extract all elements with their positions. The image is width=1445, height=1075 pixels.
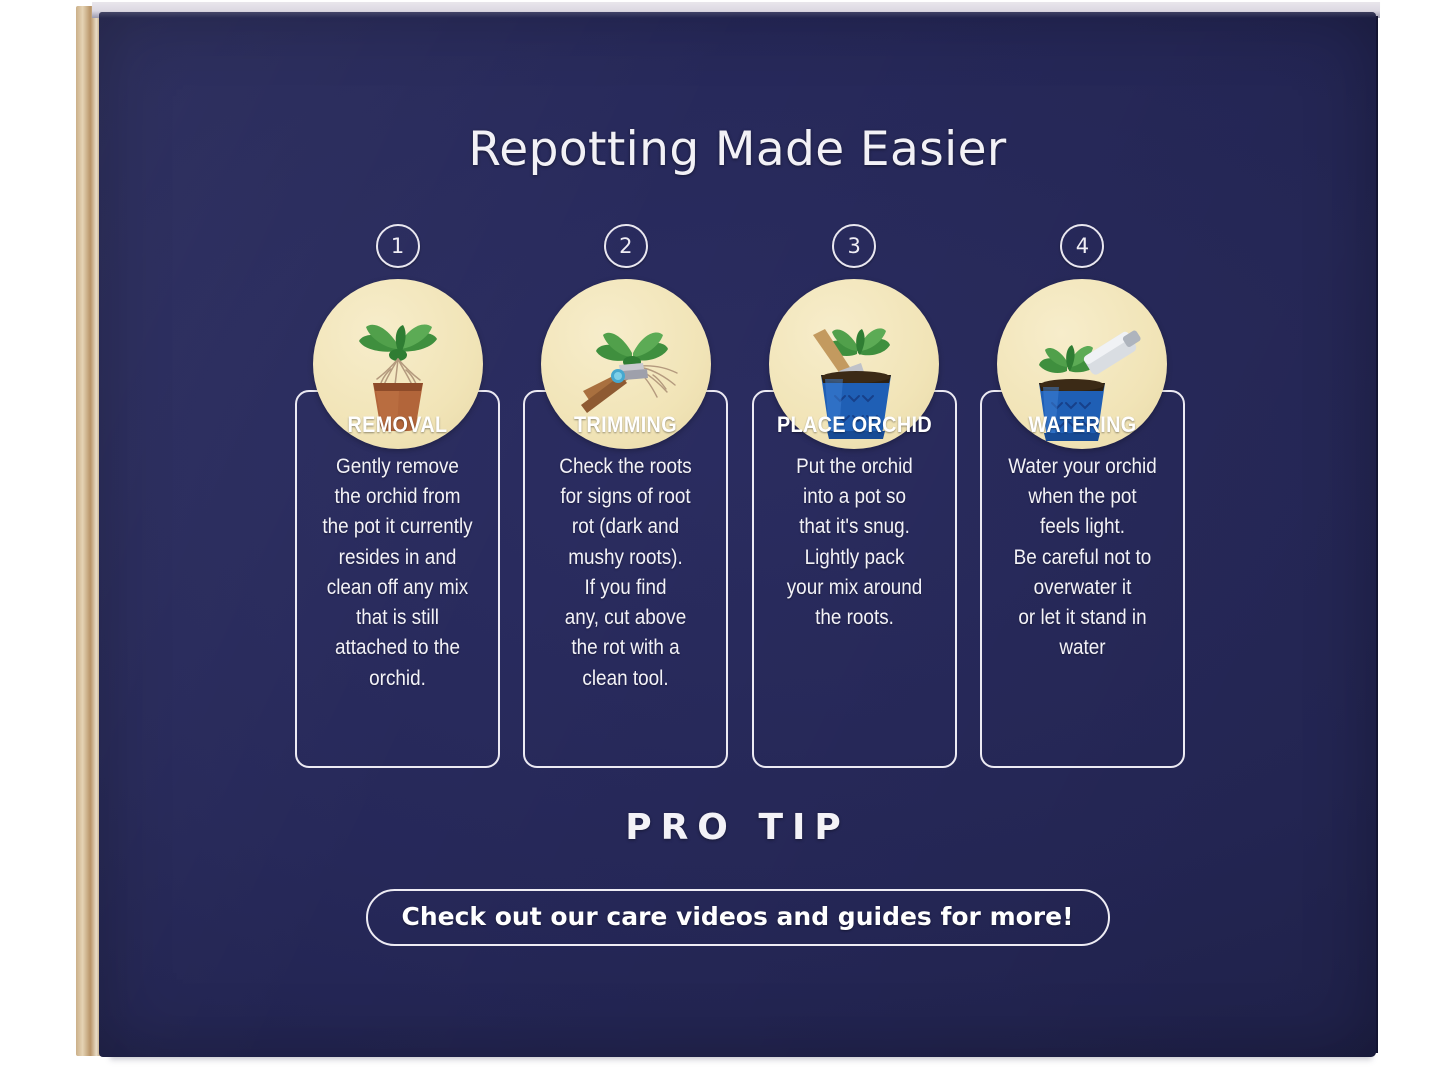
- step-body-4: Water your orchid when the pot feels lig…: [997, 452, 1167, 664]
- step-number-badge-2: 2: [604, 224, 648, 268]
- step-card-content-2: TRIMMING Check the roots for signs of ro…: [523, 412, 728, 694]
- steps-row: 1: [295, 224, 1185, 784]
- step-number-badge-1: 1: [376, 224, 420, 268]
- box-back-panel: Repotting Made Easier 1: [99, 12, 1376, 1057]
- step-heading-1: REMOVAL: [312, 412, 482, 438]
- step-2: 2: [523, 224, 728, 784]
- step-heading-3: PLACE ORCHID: [769, 412, 939, 438]
- step-card-content-1: REMOVAL Gently remove the orchid from th…: [295, 412, 500, 694]
- step-number-badge-3: 3: [832, 224, 876, 268]
- step-number-badge-4: 4: [1060, 224, 1104, 268]
- step-4: 4: [980, 224, 1185, 784]
- panel-content: Repotting Made Easier 1: [99, 12, 1376, 1057]
- step-3: 3: [752, 224, 957, 784]
- step-heading-4: WATERING: [997, 412, 1167, 438]
- page-title: Repotting Made Easier: [99, 122, 1376, 177]
- step-body-2: Check the roots for signs of root rot (d…: [541, 452, 711, 694]
- product-box-photo: Repotting Made Easier 1: [0, 0, 1445, 1075]
- pro-tip-label: PRO TIP: [99, 807, 1376, 848]
- step-card-content-3: PLACE ORCHID Put the orchid into a pot s…: [752, 412, 957, 633]
- step-body-3: Put the orchid into a pot so that it's s…: [769, 452, 939, 633]
- step-card-content-4: WATERING Water your orchid when the pot …: [980, 412, 1185, 664]
- step-heading-2: TRIMMING: [541, 412, 711, 438]
- step-body-1: Gently remove the orchid from the pot it…: [312, 452, 482, 694]
- care-videos-callout: Check out our care videos and guides for…: [366, 889, 1110, 946]
- step-1: 1: [295, 224, 500, 784]
